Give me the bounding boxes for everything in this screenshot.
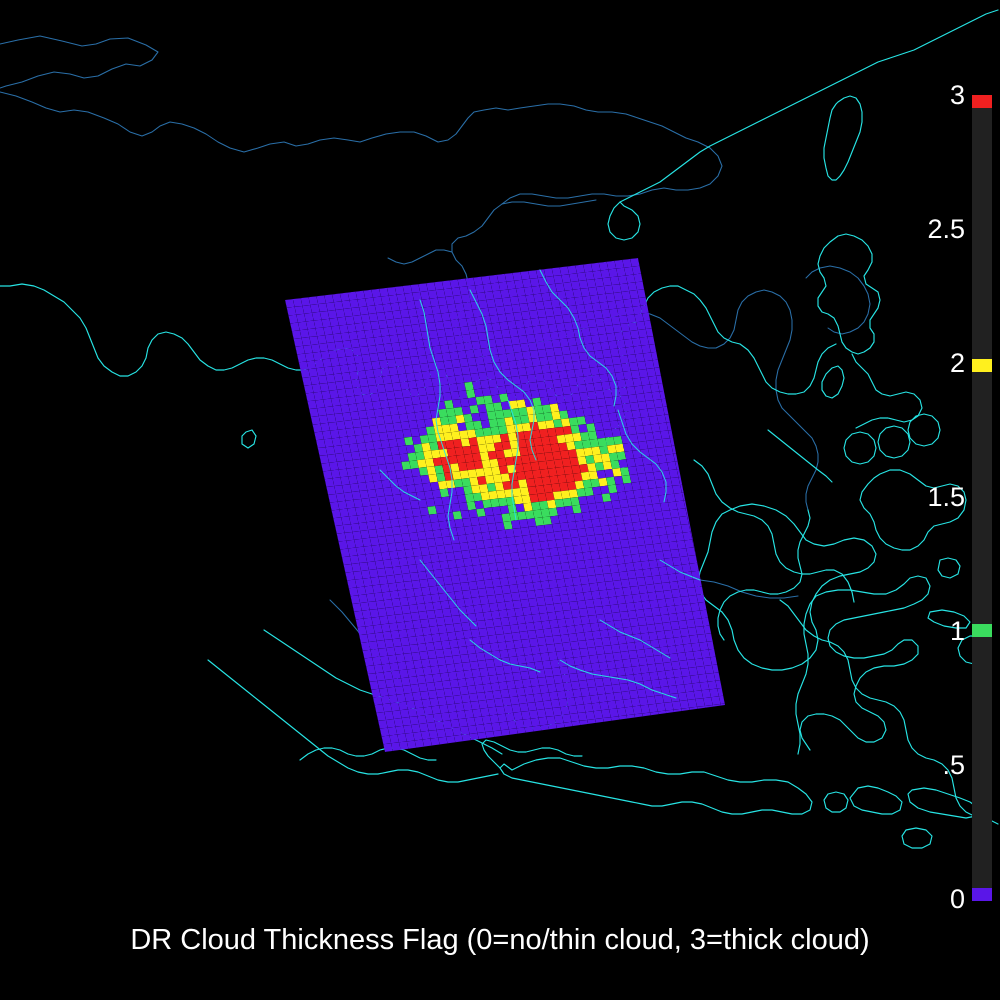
colorbar-band-3 [972, 95, 992, 108]
data-swath-layer [0, 0, 1000, 1000]
colorbar-band-1 [972, 624, 992, 637]
colorbar-tick-1_5: 1.5 [860, 484, 965, 511]
colorbar-tick-0_5: .5 [860, 752, 965, 779]
colorbar-tick-3: 3 [860, 82, 965, 109]
figure-title: DR Cloud Thickness Flag (0=no/thin cloud… [0, 922, 1000, 958]
colorbar[interactable] [972, 95, 992, 901]
cloud-thickness-swath [0, 0, 1000, 1000]
colorbar-tick-labels: 3 2.5 2 1.5 1 .5 0 [860, 60, 965, 940]
colorbar-tick-0: 0 [860, 886, 965, 913]
colorbar-tick-2: 2 [860, 350, 965, 377]
colorbar-band-0 [972, 888, 992, 901]
figure-canvas: 3 2.5 2 1.5 1 .5 0 DR Cloud Thickness Fl… [0, 0, 1000, 1000]
colorbar-tick-1: 1 [860, 618, 965, 645]
colorbar-tick-2_5: 2.5 [860, 216, 965, 243]
colorbar-band-2 [972, 359, 992, 372]
